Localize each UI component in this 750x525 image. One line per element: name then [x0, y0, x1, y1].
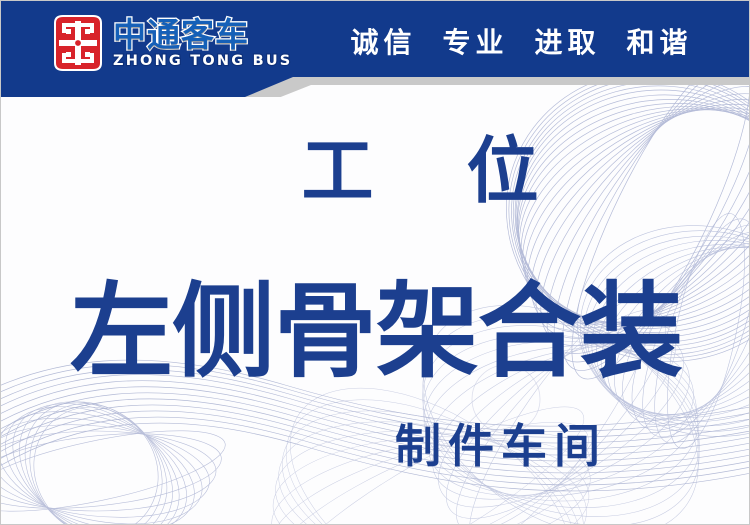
logo-english-name: ZHONG TONG BUS	[113, 54, 292, 69]
header-gray-sliver	[1, 1, 750, 97]
slogan-word-4: 和谐	[626, 29, 692, 57]
workshop-label: 制件车间	[395, 419, 607, 473]
station-label: 工 位	[301, 129, 572, 213]
station-label-row: 工 位	[1, 135, 750, 207]
slogan-word-2: 专业	[442, 29, 508, 57]
logo-chinese-name: 中通客车	[113, 18, 292, 51]
zhongtong-bus-emblem-icon	[49, 13, 107, 73]
slogan-word-3: 进取	[534, 29, 600, 57]
slogan-word-1: 诚信	[350, 29, 416, 57]
workshop-label-row: 制件车间	[1, 423, 750, 469]
company-slogan: 诚信 专业 进取 和谐	[350, 29, 692, 57]
workstation-sign-poster: 中通客车 ZHONG TONG BUS 诚信 专业 进取 和谐 工 位 左侧骨架…	[0, 0, 750, 525]
header-band: 中通客车 ZHONG TONG BUS 诚信 专业 进取 和谐	[1, 1, 750, 93]
header-blue-band	[1, 1, 750, 97]
poster-content: 工 位 左侧骨架合装 制件车间	[1, 93, 750, 525]
company-logo: 中通客车 ZHONG TONG BUS	[49, 12, 292, 74]
station-title: 左侧骨架合装	[70, 272, 682, 392]
station-title-row: 左侧骨架合装	[1, 281, 750, 384]
